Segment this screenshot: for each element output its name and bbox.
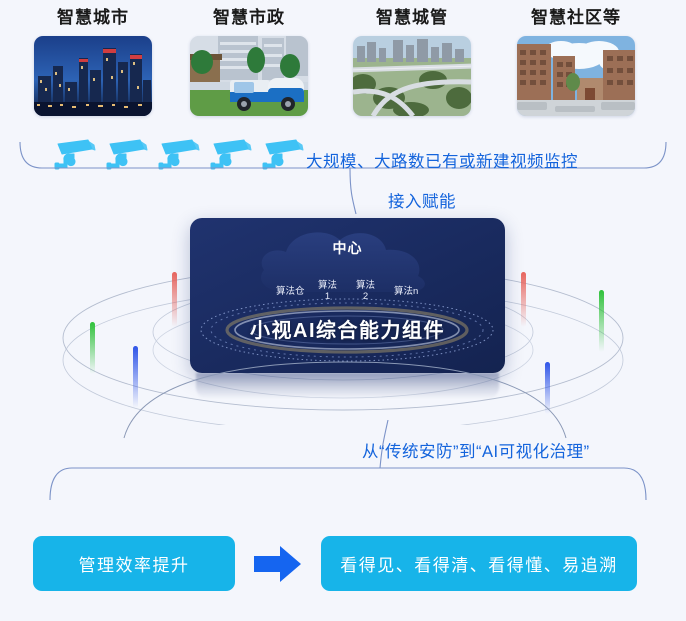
enable-connector xyxy=(330,168,370,216)
card-title: 智慧城市 xyxy=(34,8,152,28)
infographic-root: 智慧城市 xyxy=(0,0,686,621)
outcome-bracket xyxy=(48,466,648,500)
scenario-card[interactable]: 智慧城管 xyxy=(353,8,471,116)
data-beam xyxy=(172,272,177,327)
scene-arc xyxy=(120,360,570,440)
residential-community-image xyxy=(517,36,635,116)
scenario-card[interactable]: 智慧社区等 xyxy=(517,8,635,116)
data-beam xyxy=(521,272,526,327)
card-title: 智慧市政 xyxy=(190,8,308,28)
ai-platform-panel[interactable]: 中心 算法仓 算法1 算法2 算法n 小视AI综合能力组件 xyxy=(190,218,505,373)
scenario-card[interactable]: 智慧市政 xyxy=(190,8,308,116)
card-title: 智慧社区等 xyxy=(517,8,635,28)
core-title: 小视AI综合能力组件 xyxy=(190,314,505,343)
card-title: 智慧城管 xyxy=(353,8,471,28)
cloud-title: 中心 xyxy=(190,238,505,258)
city-highway-interchange-image xyxy=(353,36,471,116)
municipal-water-truck-image xyxy=(190,36,308,116)
night-city-skyline-image xyxy=(34,36,152,116)
enable-label: 接入赋能 xyxy=(388,188,456,212)
data-beam xyxy=(90,322,95,374)
outcome-pill[interactable]: 看得见、看得清、看得懂、易追溯 xyxy=(321,536,637,591)
efficiency-pill[interactable]: 管理效率提升 xyxy=(33,536,235,591)
data-beam xyxy=(599,290,604,352)
governance-label: 从“传统安防”到“AI可视化治理” xyxy=(362,438,590,462)
right-arrow-icon xyxy=(254,545,302,583)
scenario-cards: 智慧城市 xyxy=(0,0,686,140)
scenario-card[interactable]: 智慧城市 xyxy=(34,8,152,116)
